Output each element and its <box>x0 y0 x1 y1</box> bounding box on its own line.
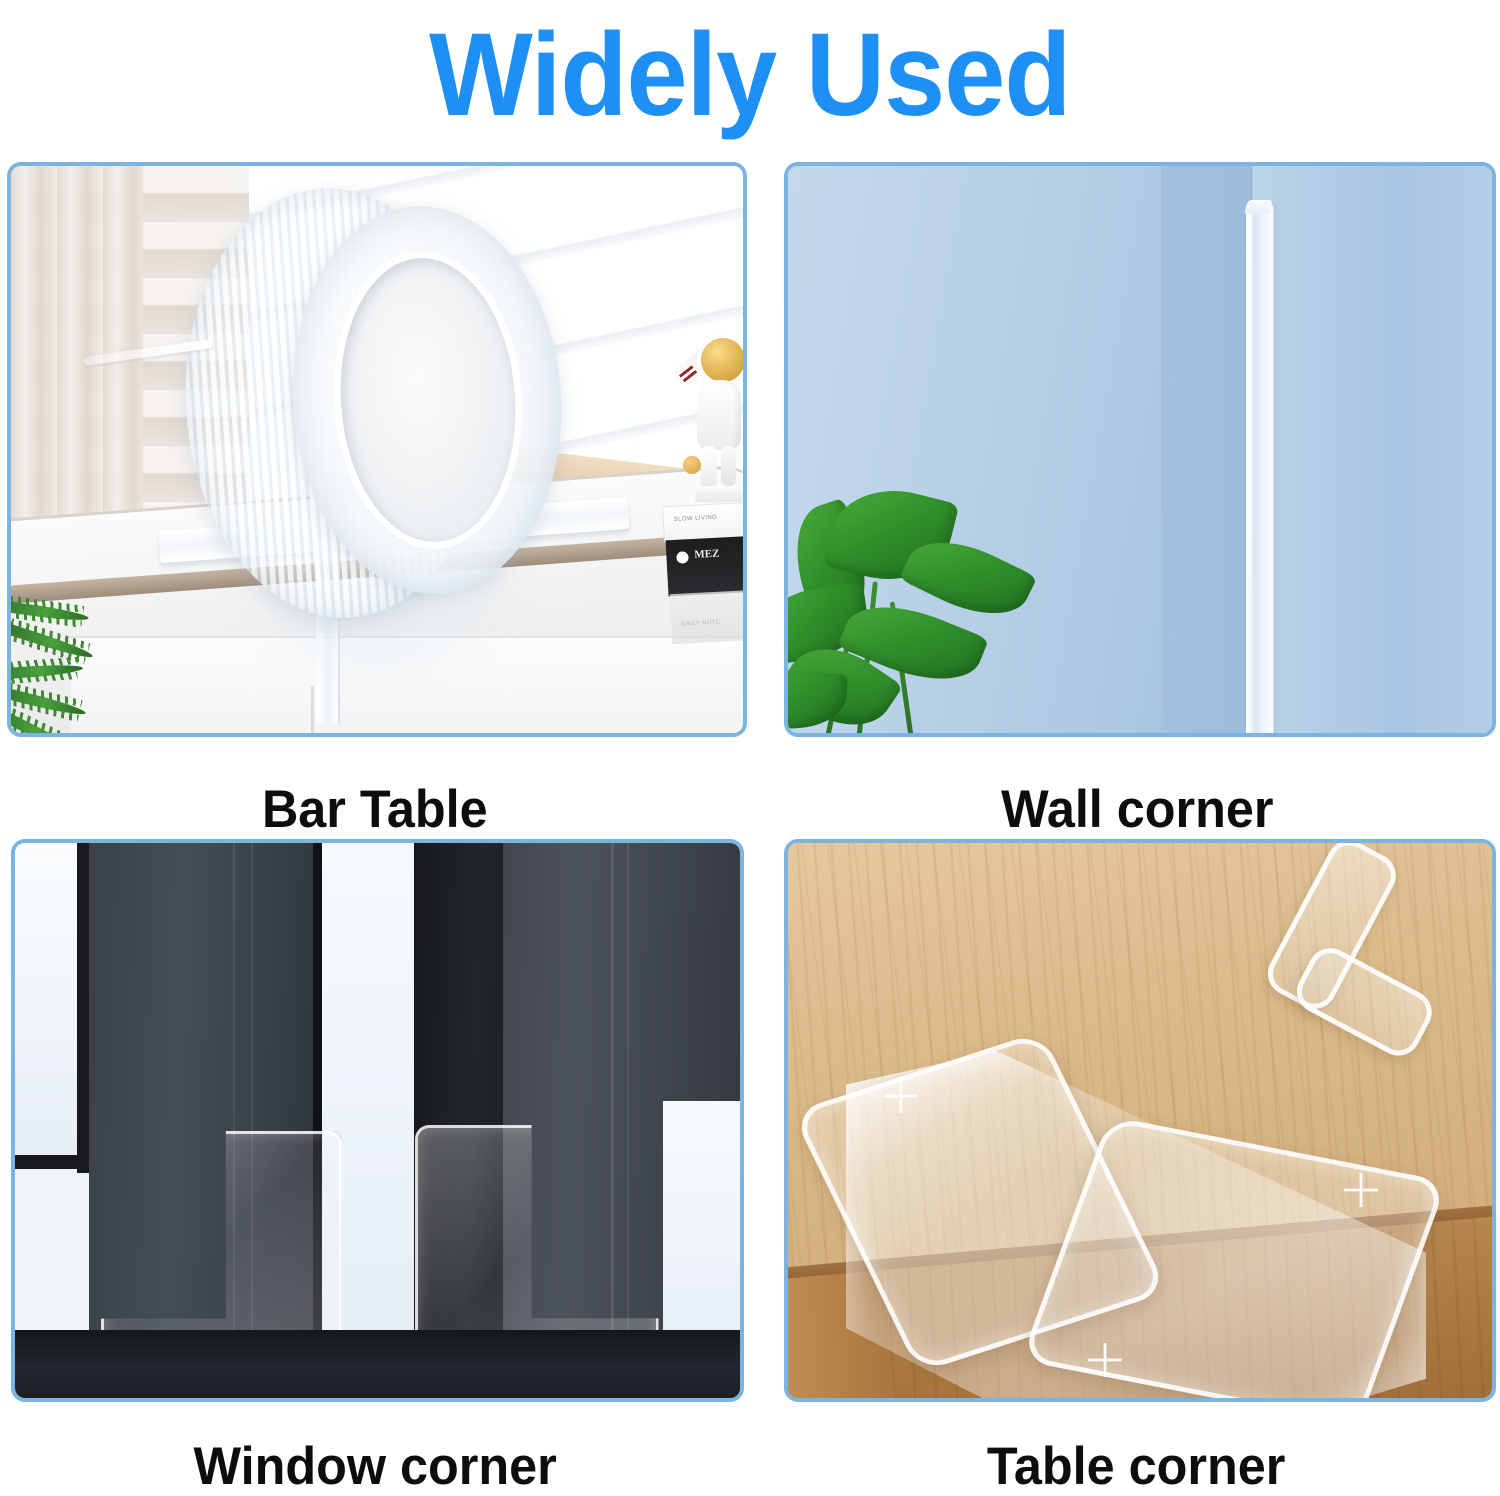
fern-frond <box>11 621 94 661</box>
sash-groove-4 <box>627 843 629 1398</box>
page-header: Widely Used <box>0 0 1500 150</box>
book-dot-icon <box>676 551 689 564</box>
window-glass-left <box>15 843 81 1155</box>
astronaut-sphere <box>683 456 701 474</box>
use-case-window-corner: Window corner <box>0 839 750 1493</box>
sash-groove-3 <box>611 843 614 1398</box>
wall-corner-guard-top-cap <box>1244 200 1273 213</box>
book-label-2: MEZ <box>694 548 720 561</box>
page-title: Widely Used <box>429 16 1070 134</box>
wall-corner-guard-highlight <box>1248 214 1252 733</box>
use-case-table-corner: Table corner <box>750 839 1500 1493</box>
panel-image-wall-corner <box>784 162 1496 737</box>
fern-frond <box>11 599 89 623</box>
astronaut-base <box>695 486 743 502</box>
astronaut-helmet <box>701 338 743 382</box>
book-label-1: SLOW LIVING <box>673 515 717 523</box>
caption-window-corner: Window corner <box>193 1440 556 1493</box>
caption-wall-corner: Wall corner <box>1001 783 1273 836</box>
sparkle-icon <box>884 1079 918 1113</box>
window-glass-right <box>663 1101 740 1351</box>
window-sill <box>15 1330 740 1398</box>
fern-plant <box>11 596 147 733</box>
scene-bar-table: SLOW LIVING MEZ DAILY NOTE <box>11 166 743 733</box>
wall-surface-middle <box>1161 166 1253 733</box>
astronaut-body <box>697 380 741 450</box>
wall-surface-right <box>1253 166 1492 733</box>
sparkle-icon <box>1344 1173 1378 1207</box>
book-label-3: DAILY NOTE <box>681 620 720 628</box>
fern-frond <box>11 663 83 681</box>
window-frame-left-vertical <box>77 843 89 1173</box>
sparkle-icon <box>1088 1343 1122 1377</box>
use-case-wall-corner: Wall corner <box>750 162 1500 839</box>
astronaut-figurine <box>671 338 743 508</box>
caption-bar-table: Bar Table <box>262 783 488 836</box>
window-frame-left-horizontal <box>15 1155 95 1169</box>
scene-table-corner <box>788 843 1492 1398</box>
panel-image-bar-table: SLOW LIVING MEZ DAILY NOTE <box>7 162 747 737</box>
panel-image-table-corner <box>784 839 1496 1402</box>
green-plant <box>788 461 1080 733</box>
astronaut-leg-left <box>701 446 717 490</box>
use-cases-grid: SLOW LIVING MEZ DAILY NOTE Bar Tab <box>0 162 1500 1493</box>
stacked-book-bottom: DAILY NOTE <box>669 590 742 644</box>
panel-image-window-corner <box>11 839 744 1402</box>
caption-table-corner: Table corner <box>987 1440 1285 1493</box>
stacked-book-middle: MEZ <box>665 536 742 597</box>
astronaut-leg-right <box>721 446 736 486</box>
scene-window-corner <box>15 843 740 1398</box>
use-case-bar-table: SLOW LIVING MEZ DAILY NOTE Bar Tab <box>0 162 750 839</box>
scene-wall-corner <box>788 166 1492 733</box>
